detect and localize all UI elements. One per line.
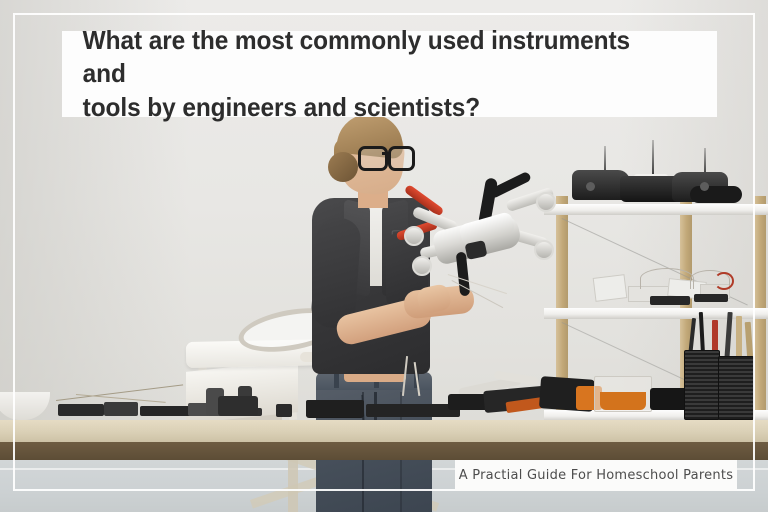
tool-component <box>306 400 364 417</box>
shelf-board <box>544 308 768 319</box>
tool-component <box>276 404 292 417</box>
red-wire-coil <box>714 272 734 290</box>
caption-subtitle: A Practial Guide For Homeschool Parents <box>459 468 734 483</box>
drone-motor <box>412 256 432 276</box>
workbench-top <box>0 420 768 442</box>
workbench-edge <box>0 442 768 460</box>
mesh-pen-cup <box>684 350 720 420</box>
eyeglasses-icon <box>358 146 414 166</box>
drone-motor <box>536 192 556 212</box>
tool-component <box>58 404 104 416</box>
shelf-post <box>754 196 766 446</box>
drone-part <box>593 274 628 302</box>
drone-frame-arc <box>640 268 694 289</box>
drone-motor <box>534 240 554 260</box>
poster: What are the most commonly used instrume… <box>0 0 768 512</box>
title-card: What are the most commonly used instrume… <box>62 31 717 117</box>
dark-component <box>650 296 690 305</box>
caption-card: A Practial Guide For Homeschool Parents <box>455 460 737 491</box>
eyeglass-lens <box>388 146 415 171</box>
page-title: What are the most commonly used instrume… <box>62 24 678 124</box>
drone-camera <box>465 240 488 260</box>
tool-component <box>366 404 460 417</box>
control-knob <box>586 182 595 191</box>
shelf-board <box>544 204 768 215</box>
drone <box>396 178 560 308</box>
control-knob <box>700 182 709 191</box>
wooden-handle-tool <box>736 316 742 360</box>
drone-wires <box>448 274 508 300</box>
antenna <box>652 140 654 176</box>
mesh-pen-cup <box>718 356 754 420</box>
hair-bun <box>328 152 358 182</box>
dark-component <box>694 294 728 302</box>
rc-transmitter <box>690 186 742 203</box>
drone-motor <box>404 226 424 246</box>
tool-component <box>104 402 138 416</box>
belt-loop <box>334 372 339 388</box>
orange-tool <box>600 392 646 410</box>
clamp-base <box>218 396 258 416</box>
eyeglass-lens <box>358 146 388 171</box>
